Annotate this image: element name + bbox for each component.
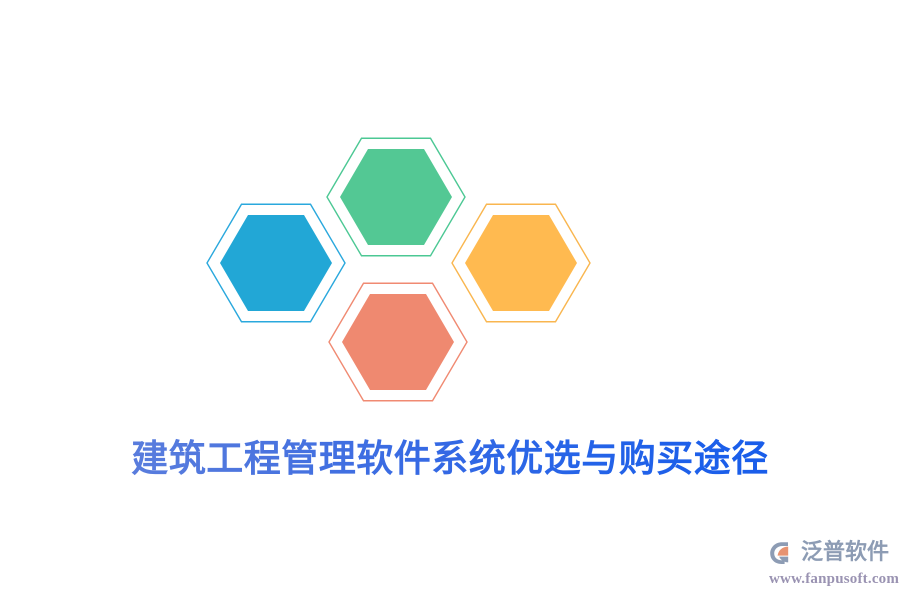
page-title: 建筑工程管理软件系统优选与购买途径 <box>0 436 900 484</box>
slide-canvas: 建筑工程管理软件系统优选与购买途径 泛普软件 www.fanpusoft.com <box>0 0 900 600</box>
hexagon-salmon-fill <box>342 294 454 390</box>
hexagon-blue-fill <box>220 215 332 311</box>
brand-wordmark: 泛普软件 <box>801 541 889 565</box>
hexagon-cluster-graphic <box>0 0 900 430</box>
hexagon-blue <box>207 204 345 322</box>
brand-logo-row: 泛普软件 <box>768 537 894 569</box>
hexagon-orange-fill <box>465 215 577 311</box>
hexagon-orange <box>452 204 590 322</box>
fanpu-logo-icon <box>768 538 798 568</box>
hexagon-cluster-svg <box>0 0 900 430</box>
hexagon-green <box>327 138 465 256</box>
brand-logo: 泛普软件 www.fanpusoft.com <box>768 537 894 591</box>
hexagon-green-fill <box>340 149 452 245</box>
brand-url: www.fanpusoft.com <box>769 570 894 588</box>
hexagon-salmon <box>329 283 467 401</box>
